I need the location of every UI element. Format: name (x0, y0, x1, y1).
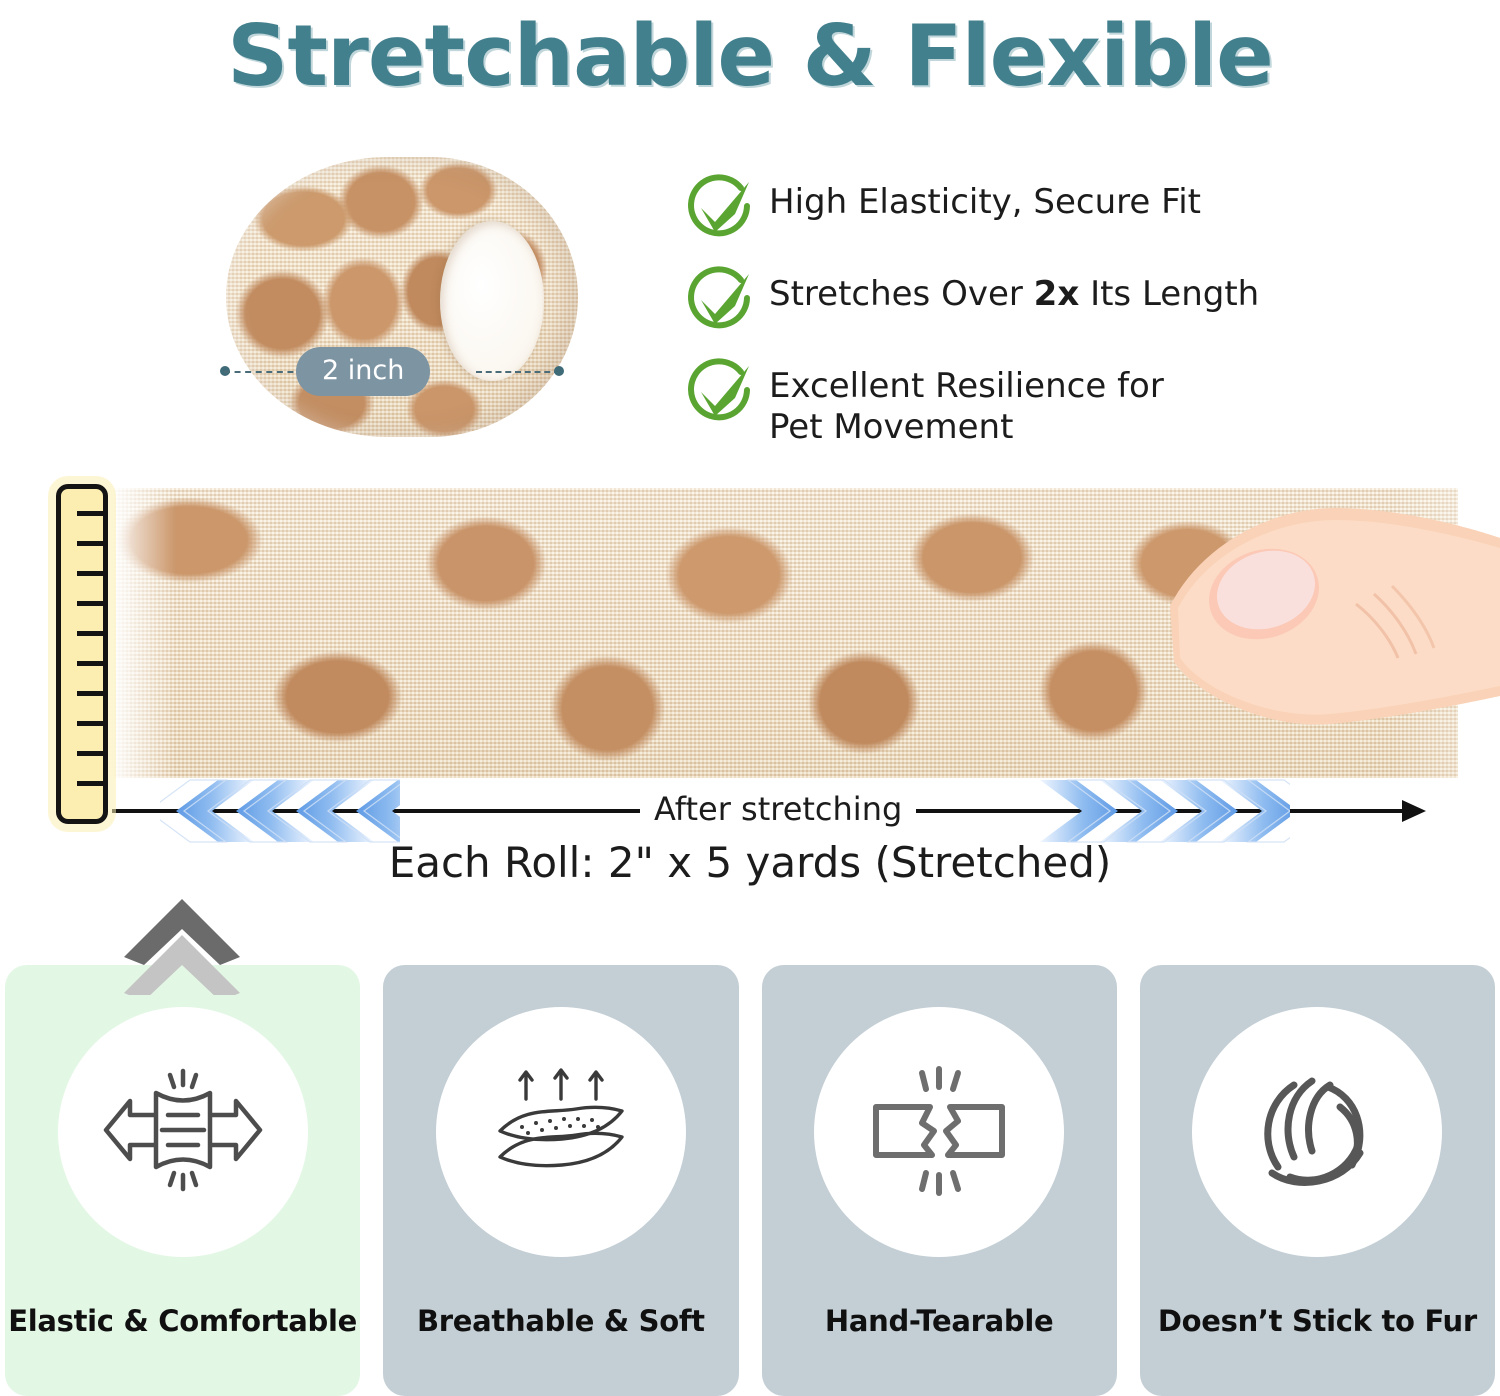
benefit-label: Excellent Resilience for Pet Movement (769, 358, 1199, 449)
benefits-list: High Elasticity, Secure Fit Stretches Ov… (685, 174, 1475, 471)
header: Stretchable & Flexible (0, 0, 1500, 112)
benefit-label: High Elasticity, Secure Fit (769, 174, 1201, 223)
stretch-direction-arrow: After stretching (0, 776, 1500, 846)
feature-card-label: Hand-Tearable (762, 1304, 1117, 1338)
fur-swirl-icon (1232, 1045, 1402, 1220)
benefit-label: Stretches Over 2x Its Length (769, 266, 1259, 315)
benefit-text-after: Its Length (1079, 274, 1259, 314)
after-stretching-label: After stretching (640, 790, 916, 828)
feature-card-elastic[interactable]: Elastic & Comfortable (5, 965, 360, 1396)
feature-card-label: Elastic & Comfortable (5, 1304, 360, 1338)
feature-icon-container (814, 1007, 1064, 1257)
stretch-arrows-icon (98, 1045, 268, 1220)
feature-card-breathable[interactable]: Breathable & Soft (383, 965, 738, 1396)
upward-pointer-chevrons (122, 895, 242, 995)
arrow-head-right (1402, 800, 1426, 822)
dimension-line-left (224, 371, 304, 373)
feature-card-label: Doesn’t Stick to Fur (1140, 1304, 1495, 1338)
feature-card-no-stick-fur[interactable]: Doesn’t Stick to Fur (1140, 965, 1495, 1396)
benefit-item: High Elasticity, Secure Fit (685, 174, 1475, 244)
green-check-icon (685, 358, 757, 428)
stretch-demo-section: After stretching Each Roll: 2" x 5 yards… (0, 476, 1500, 876)
dimension-line-right (476, 371, 560, 373)
green-check-icon (685, 266, 757, 336)
dimension-badge: 2 inch (296, 347, 430, 396)
roll-core-hole (440, 221, 544, 381)
feature-card-hand-tearable[interactable]: Hand-Tearable (762, 965, 1117, 1396)
feature-cards-row: Elastic & Comfortable (0, 965, 1500, 1396)
vertical-ruler (56, 484, 108, 824)
benefit-text-before: Stretches Over (769, 274, 1034, 314)
benefit-item: Excellent Resilience for Pet Movement (685, 358, 1475, 449)
product-roll-image: 2 inch (218, 147, 588, 447)
torn-tape-icon (854, 1045, 1024, 1220)
benefit-item: Stretches Over 2x Its Length (685, 266, 1475, 336)
breathable-fabric-icon (476, 1045, 646, 1220)
feature-card-label: Breathable & Soft (383, 1304, 738, 1338)
benefit-text-emphasis: 2x (1034, 274, 1080, 314)
hand-pinching-bandage (1160, 486, 1500, 776)
feature-icon-container (1192, 1007, 1442, 1257)
green-check-icon (685, 174, 757, 244)
feature-icon-container (58, 1007, 308, 1257)
roll-specification-text: Each Roll: 2" x 5 yards (Stretched) (0, 838, 1500, 887)
feature-icon-container (436, 1007, 686, 1257)
dimension-dot-right (554, 366, 564, 376)
page-title: Stretchable & Flexible (227, 14, 1273, 99)
product-overview-section: 2 inch High Elasticity, Secure Fit Stret… (0, 112, 1500, 472)
